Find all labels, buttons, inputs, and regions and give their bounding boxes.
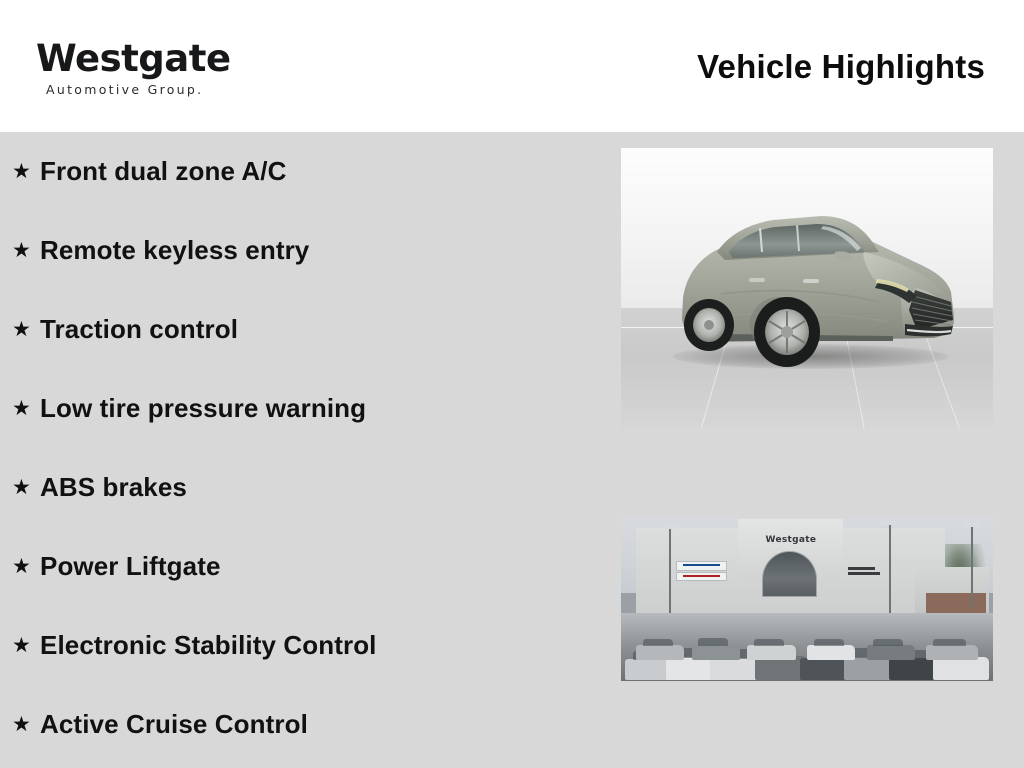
highlight-label: Front dual zone A/C [40,156,286,187]
vehicle-lot [621,613,993,681]
vehicle-highlights-list: ★ Front dual zone A/C ★ Remote keyless e… [0,132,600,764]
list-item: ★ Power Liftgate [0,527,600,606]
star-bullet-icon: ★ [12,635,40,656]
slide-header: Westgate Automotive Group. Vehicle Highl… [0,0,1024,132]
light-pole [971,523,973,608]
highlight-label: Low tire pressure warning [40,393,366,424]
list-item: ★ Low tire pressure warning [0,369,600,448]
star-bullet-icon: ★ [12,477,40,498]
highlight-label: ABS brakes [40,472,187,503]
list-item: ★ Remote keyless entry [0,211,600,290]
chrysler-sign [676,561,727,571]
list-item: ★ Electronic Stability Control [0,606,600,685]
westgate-logo[interactable]: Westgate Automotive Group. [36,40,296,97]
light-pole [669,525,671,620]
star-bullet-icon: ★ [12,556,40,577]
dealership-photo[interactable]: Westgate [621,518,993,681]
vehicle-photo[interactable] [621,148,993,428]
list-item: ★ ABS brakes [0,448,600,527]
jeep-ram-sign [846,566,889,577]
dealership-building: Westgate [636,528,945,619]
vehicle-highlights-slide: Westgate Automotive Group. Vehicle Highl… [0,0,1024,768]
star-bullet-icon: ★ [12,319,40,340]
rear-wheel [684,299,734,351]
front-wheel [754,297,820,367]
list-item: ★ Traction control [0,290,600,369]
highlight-label: Active Cruise Control [40,709,308,740]
highlight-label: Power Liftgate [40,551,221,582]
highlight-label: Electronic Stability Control [40,630,377,661]
lot-vehicle [807,645,855,660]
lot-vehicle [747,645,795,659]
highlight-label: Traction control [40,314,238,345]
star-bullet-icon: ★ [12,161,40,182]
lot-vehicle [692,645,740,661]
highlight-label: Remote keyless entry [40,235,309,266]
lot-vehicle [867,645,915,659]
star-bullet-icon: ★ [12,240,40,261]
door-handle [803,279,819,283]
lot-vehicle [926,645,978,660]
door-handle [749,278,765,282]
suv-illustration [621,148,993,428]
lot-vehicle [636,645,684,660]
building-sign-label: Westgate [766,535,817,545]
list-item: ★ Active Cruise Control [0,685,600,764]
list-item: ★ Front dual zone A/C [0,132,600,211]
brand-tagline: Automotive Group. [46,84,296,97]
brand-name: Westgate [36,40,296,77]
lot-vehicle [933,657,989,680]
star-bullet-icon: ★ [12,714,40,735]
arch-window [762,551,816,597]
dodge-sign [676,572,727,581]
page-title: Vehicle Highlights [697,48,985,86]
light-pole [889,521,891,622]
star-bullet-icon: ★ [12,398,40,419]
